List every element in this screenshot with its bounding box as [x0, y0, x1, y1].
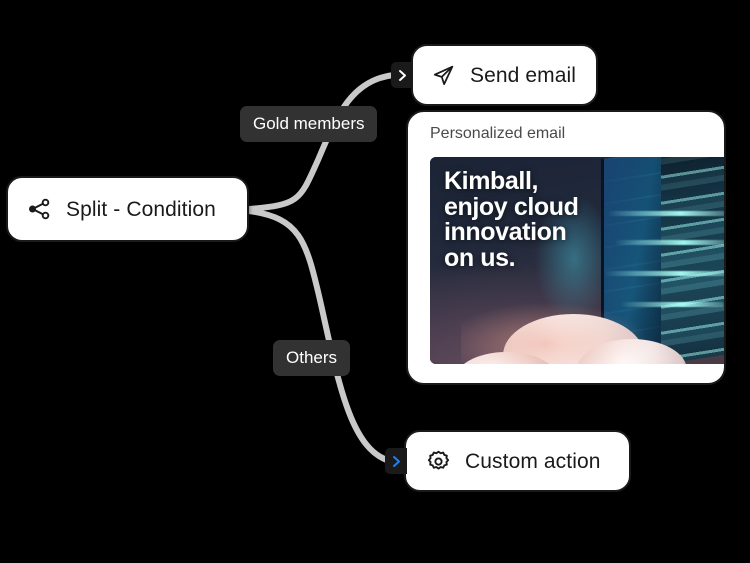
node-send-email-label: Send email	[470, 65, 576, 86]
connector-gold-members	[249, 75, 394, 209]
node-split-condition-label: Split - Condition	[66, 199, 216, 220]
email-preview-card[interactable]: Personalized email Kimball, enjoy cloud …	[406, 110, 726, 385]
branch-label-gold-members[interactable]: Gold members	[240, 106, 377, 142]
connector-others	[249, 211, 390, 461]
node-custom-action-label: Custom action	[465, 451, 601, 472]
email-hero-image: Kimball, enjoy cloud innovation on us.	[430, 157, 726, 364]
gear-icon	[426, 449, 451, 474]
email-headline: Kimball, enjoy cloud innovation on us.	[444, 169, 619, 271]
email-preview-title: Personalized email	[408, 112, 724, 142]
branch-label-others[interactable]: Others	[273, 340, 350, 376]
node-split-condition[interactable]: Split - Condition	[6, 176, 249, 242]
paper-plane-icon	[431, 63, 456, 88]
connector-socket-custom-action[interactable]	[385, 448, 407, 474]
node-send-email[interactable]: Send email	[411, 44, 598, 106]
connector-socket-send-email[interactable]	[391, 62, 413, 88]
workflow-canvas: Split - Condition Send email Personalize…	[0, 0, 750, 563]
share-split-icon	[26, 196, 52, 222]
node-custom-action[interactable]: Custom action	[404, 430, 631, 492]
